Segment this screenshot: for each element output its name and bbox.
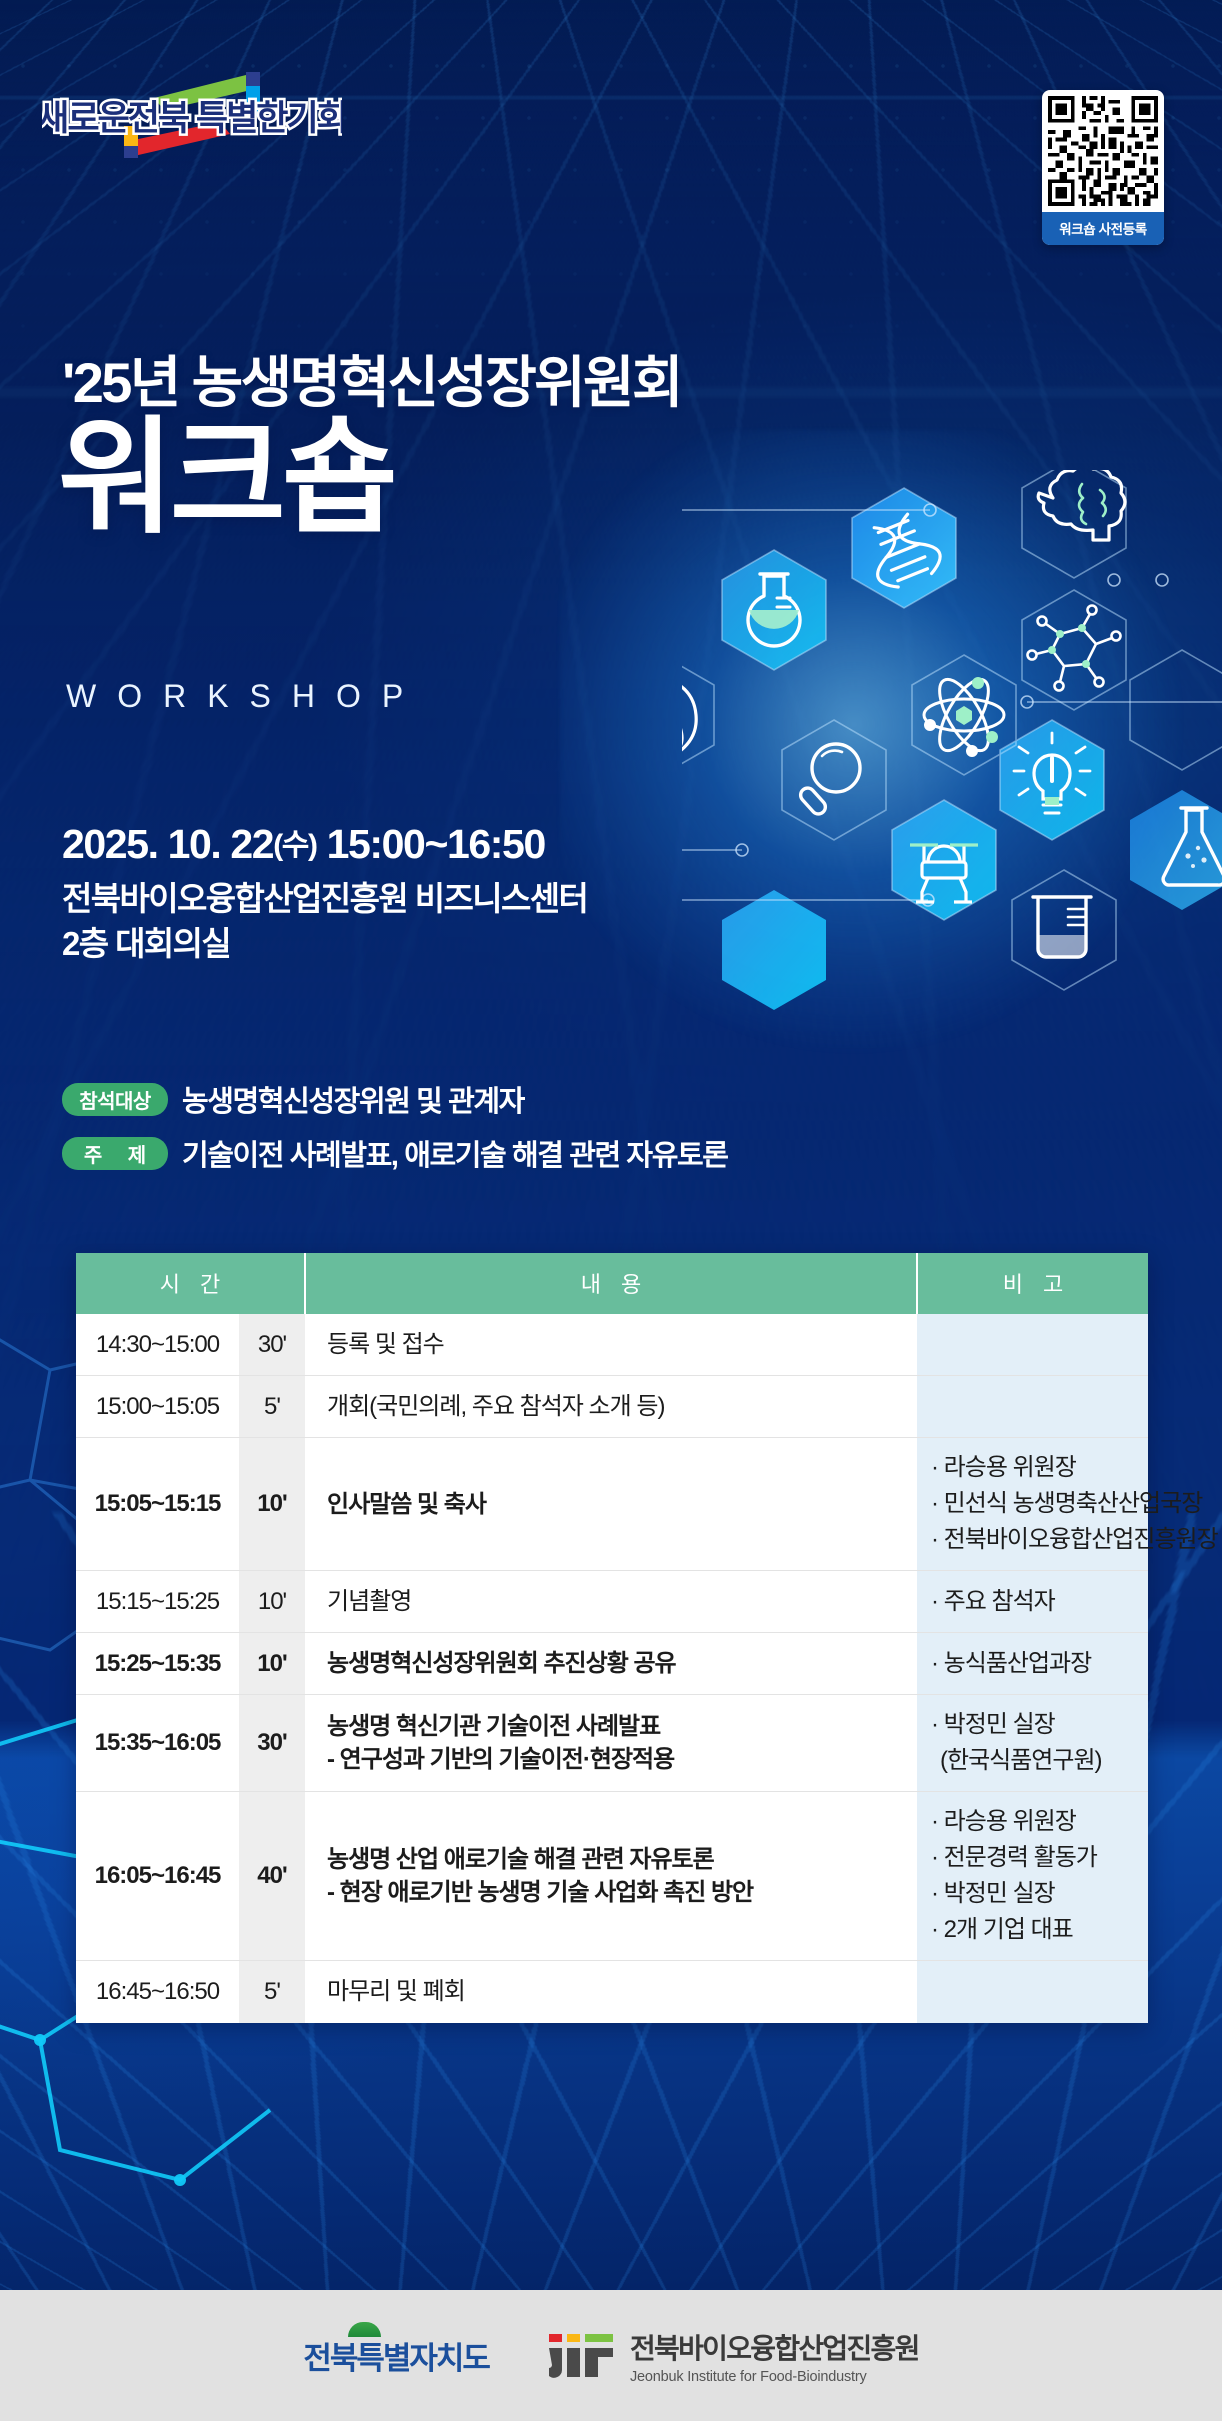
content-line: 개회(국민의례, 주요 참석자 소개 등) (327, 1390, 917, 1423)
cell-time: 14:30~15:00 (76, 1314, 239, 1376)
cell-content: 개회(국민의례, 주요 참석자 소개 등) (305, 1376, 917, 1438)
cell-note (917, 1961, 1148, 2023)
molecule-icon (1028, 606, 1121, 691)
info-row-audience: 참석대상 농생명혁신성장위원 및 관계자 (62, 1078, 524, 1120)
page-title-english: WORKSHOP (66, 678, 424, 715)
cell-time: 16:45~16:50 (76, 1961, 239, 2023)
cell-note (917, 1314, 1148, 1376)
cell-content: 농생명 혁신기관 기술이전 사례발표- 연구성과 기반의 기술이전·현장적용 (305, 1695, 917, 1792)
page-title: 워크숍 (58, 412, 394, 544)
table-row: 14:30~15:0030'등록 및 접수 (76, 1314, 1148, 1376)
table-row: 15:00~15:055'개회(국민의례, 주요 참석자 소개 등) (76, 1376, 1148, 1438)
qr-code-icon[interactable] (1048, 96, 1158, 206)
cell-duration: 30' (239, 1695, 305, 1792)
content-line: 기념촬영 (327, 1585, 917, 1618)
cell-content: 농생명혁신성장위원회 추진상황 공유 (305, 1633, 917, 1695)
cell-note: · 라승용 위원장· 민선식 농생명축산산업국장· 전북바이오융합산업진흥원장 (917, 1438, 1148, 1571)
atom-icon (924, 672, 1004, 757)
cell-time: 15:05~15:15 (76, 1438, 239, 1571)
audience-tag-label: 참석대상 (62, 1083, 168, 1116)
jif-name-english: Jeonbuk Institute for Food-Bioindustry (630, 2369, 919, 2385)
jeonbuk-province-label: 전북특별자치도 (303, 2333, 489, 2378)
note-line: · 라승용 위원장 (931, 1804, 1140, 1840)
qr-label: 워크숍 사전등록 (1042, 212, 1164, 245)
event-time-range: 15:00~16:50 (327, 821, 545, 867)
poster-root: 새로운전북 특별한기회 (0, 0, 1222, 2421)
cell-duration: 5' (239, 1376, 305, 1438)
jif-name-korean: 전북바이오융합산업진흥원 (630, 2327, 919, 2367)
science-icon-hexagon-cluster (682, 470, 1222, 1090)
cell-content: 등록 및 접수 (305, 1314, 917, 1376)
cell-duration: 10' (239, 1571, 305, 1633)
content-line: - 현장 애로기반 농생명 기술 사업화 촉진 방안 (327, 1876, 917, 1909)
content-line: 농생명 산업 애로기술 해결 관련 자유토론 (327, 1843, 917, 1876)
event-venue-line1: 전북바이오융합산업진흥원 비즈니스센터 (62, 877, 587, 922)
cell-duration: 5' (239, 1961, 305, 2023)
rocket-icon (682, 681, 696, 765)
note-line: · 박정민 실장 (931, 1876, 1140, 1912)
slogan-text: 새로운전북 특별한기회 (42, 99, 342, 138)
cell-duration: 30' (239, 1314, 305, 1376)
schedule-table-wrapper: 시 간 내 용 비 고 14:30~15:0030'등록 및 접수15:00~1… (76, 1253, 1148, 2023)
table-row: 15:25~15:3510'농생명혁신성장위원회 추진상황 공유· 농식품산업과… (76, 1633, 1148, 1695)
cell-content: 인사말씀 및 축사 (305, 1438, 917, 1571)
cell-time: 15:35~16:05 (76, 1695, 239, 1792)
cell-note: · 농식품산업과장 (917, 1633, 1148, 1695)
cell-note (917, 1376, 1148, 1438)
table-row: 16:45~16:505'마무리 및 폐회 (76, 1961, 1148, 2023)
note-line: · 2개 기업 대표 (931, 1912, 1140, 1948)
content-line: 농생명 혁신기관 기술이전 사례발표 (327, 1710, 917, 1743)
event-day-of-week: (수) (273, 829, 316, 862)
cell-duration: 40' (239, 1792, 305, 1961)
cell-time: 16:05~16:45 (76, 1792, 239, 1961)
note-line: · 전북바이오융합산업진흥원장 (931, 1522, 1140, 1558)
cell-time: 15:25~15:35 (76, 1633, 239, 1695)
content-line: 등록 및 접수 (327, 1328, 917, 1361)
footer-bar: 전북특별자치도 전북바이오융합산업진흥원 Jeonbuk Institute f… (0, 2290, 1222, 2421)
table-row: 15:15~15:2510'기념촬영· 주요 참석자 (76, 1571, 1148, 1633)
cell-note: · 주요 참석자 (917, 1571, 1148, 1633)
beaker-icon (1033, 897, 1091, 957)
schedule-table: 시 간 내 용 비 고 14:30~15:0030'등록 및 접수15:00~1… (76, 1253, 1148, 2023)
content-line: 마무리 및 폐회 (327, 1975, 917, 2008)
content-line: 인사말씀 및 축사 (327, 1488, 917, 1521)
jif-text-block: 전북바이오융합산업진흥원 Jeonbuk Institute for Food-… (630, 2327, 919, 2385)
cell-note: · 라승용 위원장· 전문경력 활동가· 박정민 실장· 2개 기업 대표 (917, 1792, 1148, 1961)
note-line: · 민선식 농생명축산산업국장 (931, 1486, 1140, 1522)
topic-tag-value: 기술이전 사례발표, 애로기술 해결 관련 자유토론 (182, 1132, 728, 1174)
content-line: 농생명혁신성장위원회 추진상황 공유 (327, 1647, 917, 1680)
note-line: (한국식품연구원) (931, 1743, 1140, 1779)
cell-note: · 박정민 실장(한국식품연구원) (917, 1695, 1148, 1792)
column-header-time: 시 간 (76, 1253, 305, 1314)
note-line: · 박정민 실장 (931, 1707, 1140, 1743)
column-header-note: 비 고 (917, 1253, 1148, 1314)
info-row-topic: 주 제 기술이전 사례발표, 애로기술 해결 관련 자유토론 (62, 1132, 728, 1174)
cell-time: 15:00~15:05 (76, 1376, 239, 1438)
event-venue-line2: 2층 대회의실 (62, 922, 587, 967)
cell-content: 기념촬영 (305, 1571, 917, 1633)
jeonbuk-slogan-logo: 새로운전북 특별한기회 (42, 68, 342, 168)
cell-time: 15:15~15:25 (76, 1571, 239, 1633)
audience-tag-value: 농생명혁신성장위원 및 관계자 (182, 1078, 524, 1120)
note-line: · 주요 참석자 (931, 1584, 1140, 1620)
qr-registration-card[interactable]: 워크숍 사전등록 (1042, 90, 1164, 245)
column-header-content: 내 용 (305, 1253, 917, 1314)
magnifier-icon (798, 744, 860, 817)
jif-mark-icon (547, 2332, 617, 2380)
cell-duration: 10' (239, 1438, 305, 1571)
cell-content: 농생명 산업 애로기술 해결 관련 자유토론- 현장 애로기반 농생명 기술 사… (305, 1792, 917, 1961)
note-line: · 라승용 위원장 (931, 1450, 1140, 1486)
cell-duration: 10' (239, 1633, 305, 1695)
note-line: · 농식품산업과장 (931, 1646, 1140, 1682)
table-header-row: 시 간 내 용 비 고 (76, 1253, 1148, 1314)
topic-tag-label: 주 제 (62, 1137, 168, 1170)
content-line: - 연구성과 기반의 기술이전·현장적용 (327, 1743, 917, 1776)
table-row: 16:05~16:4540'농생명 산업 애로기술 해결 관련 자유토론- 현장… (76, 1792, 1148, 1961)
schedule-table-body: 14:30~15:0030'등록 및 접수15:00~15:055'개회(국민의… (76, 1314, 1148, 2023)
cell-content: 마무리 및 폐회 (305, 1961, 917, 2023)
jeonbuk-province-logo: 전북특별자치도 (303, 2333, 489, 2378)
event-datetime: 2025. 10. 22(수) 15:00~16:50 (62, 820, 545, 868)
event-venue: 전북바이오융합산업진흥원 비즈니스센터 2층 대회의실 (62, 877, 587, 966)
note-line: · 전문경력 활동가 (931, 1840, 1140, 1876)
table-row: 15:05~15:1510'인사말씀 및 축사· 라승용 위원장· 민선식 농생… (76, 1438, 1148, 1571)
jif-logo: 전북바이오융합산업진흥원 Jeonbuk Institute for Food-… (547, 2327, 919, 2385)
table-row: 15:35~16:0530'농생명 혁신기관 기술이전 사례발표- 연구성과 기… (76, 1695, 1148, 1792)
event-date: 2025. 10. 22 (62, 821, 273, 867)
